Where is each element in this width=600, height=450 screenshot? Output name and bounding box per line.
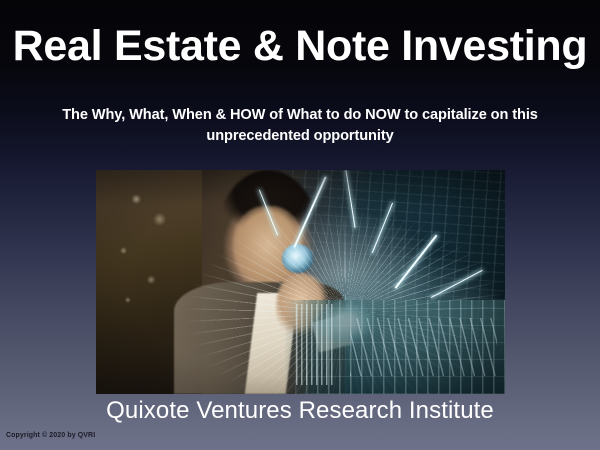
slide-subtitle: The Why, What, When & HOW of What to do …: [28, 105, 572, 146]
slide-title: Real Estate & Note Investing: [0, 23, 600, 69]
presentation-slide: Real Estate & Note Investing The Why, Wh…: [0, 0, 600, 450]
copyright-notice: Copyright © 2020 by QVRI: [6, 432, 95, 439]
tesla-lab-photo: [96, 170, 505, 394]
organization-name: Quixote Ventures Research Institute: [0, 397, 600, 425]
photo-vignette: [96, 170, 505, 394]
